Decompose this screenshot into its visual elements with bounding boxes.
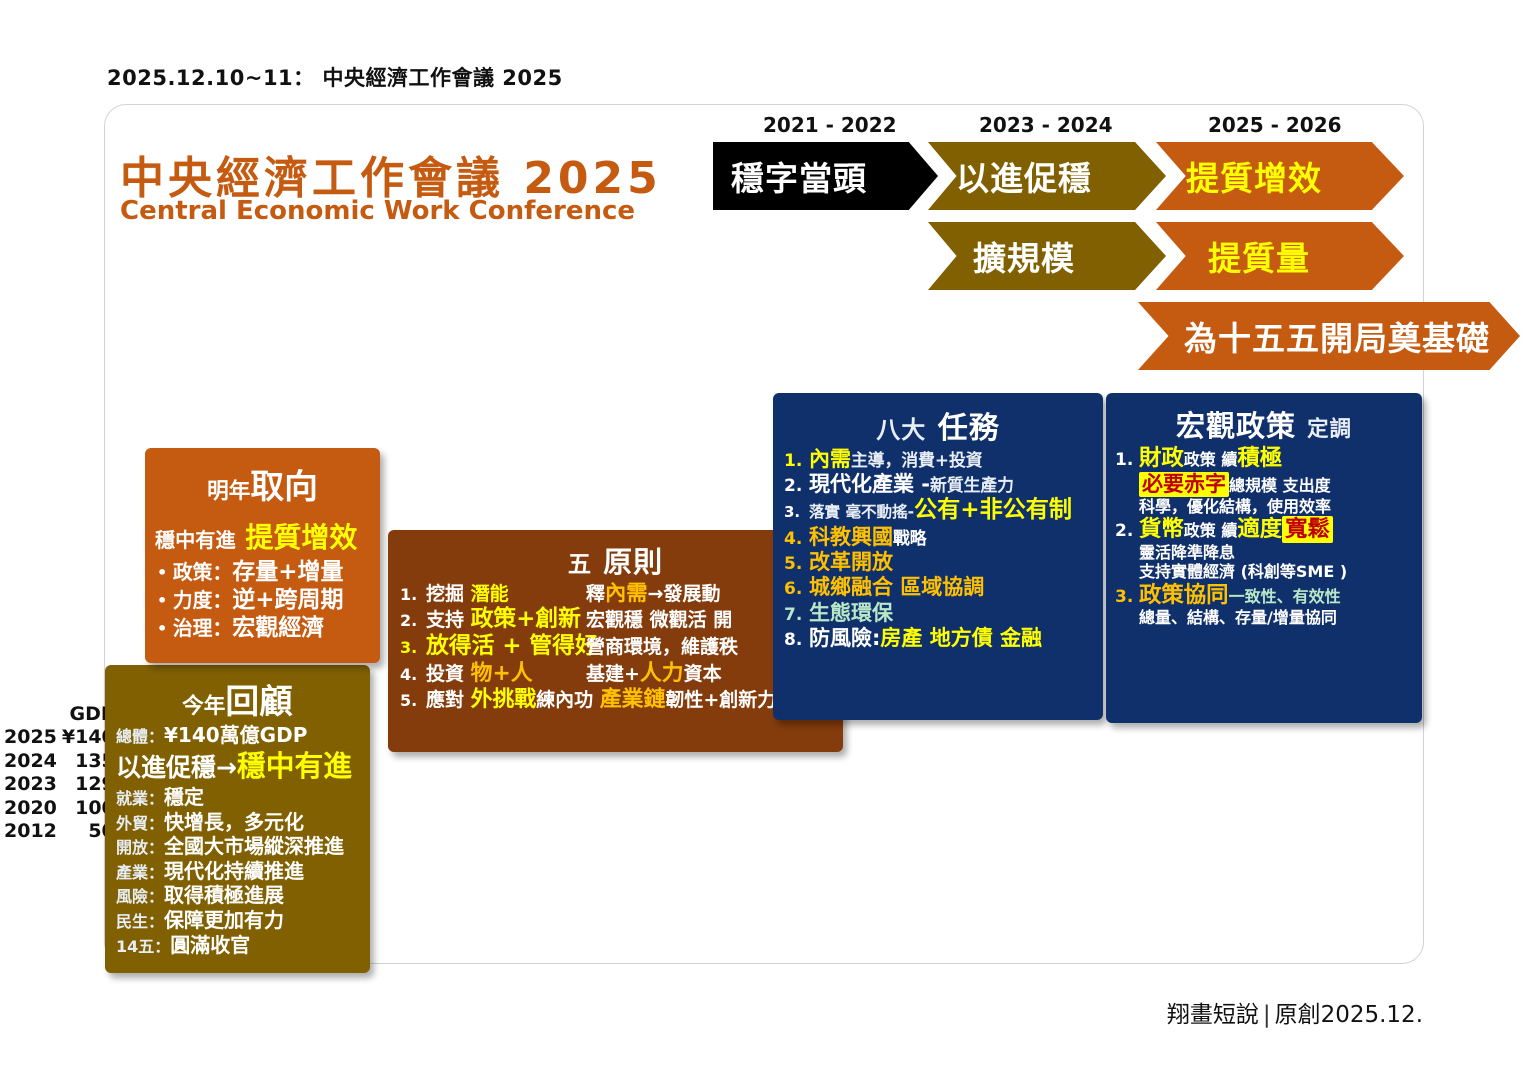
- principle-b3: 資本: [684, 663, 722, 685]
- card-eight-tasks[interactable]: 八大 任務 1. 內需主導，消費+投資 2. 現代化產業 - 新質生產力 3. …: [773, 393, 1103, 720]
- review-highlight-left: 以進促穩→: [116, 753, 237, 782]
- task-num: 2.: [784, 476, 809, 496]
- card-macro-heading-small: 定調: [1307, 417, 1352, 442]
- task-p2: 現代化產業 -: [809, 472, 930, 497]
- principle-a1: 投資: [426, 663, 471, 685]
- card-review-heading-big: 回顧: [225, 682, 293, 721]
- next-item-list: 政策：存量+增量 力度：逆+跨周期 治理：宏觀經濟: [145, 558, 380, 642]
- task-num: 6.: [784, 579, 809, 599]
- task-p1: 科教興國: [809, 525, 893, 550]
- chevron-2021-2022[interactable]: 穩字當頭: [713, 142, 938, 210]
- card-next-heading-big: 取向: [250, 467, 318, 506]
- review-item-val: 全國大市場縱深推進: [164, 834, 344, 858]
- principle-b1: 宏觀穩 微觀活 開: [586, 609, 732, 631]
- principle-num: 4.: [400, 665, 426, 684]
- task-p1: 城鄉融合 區域協調: [809, 575, 984, 600]
- table-row-header: GDP: [4, 703, 120, 726]
- principle-a1: 支持: [426, 609, 471, 631]
- task-num: 3.: [784, 503, 809, 521]
- chevron-2023-2024[interactable]: 以進促穩: [928, 142, 1166, 210]
- review-item-key: 風險：: [116, 887, 164, 906]
- card-this-year-review[interactable]: 今年回顧 總體：¥140萬億GDP 以進促穩→穩中有進 就業：穩定 外貿：快增長…: [105, 665, 370, 973]
- principle-b3: 韌性+創新力: [665, 689, 776, 711]
- principle-a2: 政策+創新: [471, 606, 581, 632]
- principle-b3: →發展動: [648, 583, 721, 605]
- gdp-year: 2023: [4, 773, 62, 796]
- next-item-key: 治理：: [173, 617, 232, 640]
- principle-a2: 物+人: [471, 661, 533, 686]
- principle-b2: 產業鏈: [600, 687, 666, 712]
- chevron-foundation[interactable]: 為十五五開局奠基礎: [1138, 302, 1520, 370]
- macro-highlight: 必要赤字: [1139, 472, 1229, 497]
- task-p2: 戰略: [893, 528, 927, 548]
- list-item: 4. 科教興國戰略: [773, 525, 1103, 550]
- gdp-year: 2012: [4, 820, 62, 843]
- list-item: 6. 城鄉融合 區域協調: [773, 575, 1103, 600]
- task-num: 8.: [784, 630, 809, 650]
- list-item: 7. 生態環保: [773, 601, 1103, 626]
- next-item-val: 宏觀經濟: [232, 615, 324, 641]
- card-tasks-heading-small: 八大: [876, 416, 926, 444]
- macro-highlight-2: 寬鬆: [1282, 516, 1333, 543]
- list-item: 科學，優化結構，使用效率: [1106, 497, 1422, 516]
- chevron-raise-quality[interactable]: 提質量: [1156, 222, 1404, 290]
- macro-t1: 政策協同: [1139, 582, 1229, 609]
- year-label-2: 2023 - 2024: [979, 113, 1113, 137]
- footer-divider: |: [1259, 1002, 1275, 1028]
- year-label-1: 2021 - 2022: [763, 113, 897, 137]
- review-item-key: 就業：: [116, 789, 164, 808]
- year-label-3: 2025 - 2026: [1208, 113, 1342, 137]
- task-num: 7.: [784, 605, 809, 625]
- card-next-heading-small: 明年: [207, 479, 250, 504]
- task-num: 4.: [784, 529, 809, 549]
- gdp-year: 2025: [4, 726, 62, 749]
- table-row: 2023 129: [4, 773, 120, 796]
- review-highlight: 以進促穩→穩中有進: [105, 748, 370, 785]
- card-macro-heading-big: 宏觀政策: [1176, 409, 1296, 443]
- macro-t5: 總量、結構、存量/增量協同: [1139, 608, 1337, 627]
- macro-num: 1.: [1115, 450, 1139, 470]
- macro-t1: 貨幣: [1139, 516, 1184, 543]
- review-item-key: 開放：: [116, 838, 164, 857]
- gdp-year: 2020: [4, 797, 62, 820]
- review-item-val: 現代化持續推進: [164, 859, 304, 883]
- next-subtitle-left: 穩中有進: [155, 528, 236, 552]
- card-principles-heading-small: 五: [568, 551, 592, 578]
- card-review-heading-small: 今年: [182, 694, 225, 719]
- principle-a1: 應對: [426, 689, 471, 711]
- macro-t1: 財政: [1139, 445, 1184, 472]
- list-item: 產業：現代化持續推進: [105, 859, 370, 884]
- principle-b1: 營商環境，維護秩: [586, 636, 738, 658]
- review-total: 總體：¥140萬億GDP: [105, 723, 370, 748]
- chevron-expand-scale[interactable]: 擴規模: [928, 222, 1166, 290]
- card-next-heading: 明年取向: [145, 448, 380, 508]
- principle-b1: 釋: [586, 583, 605, 605]
- principle-b1: 基建+: [586, 663, 640, 685]
- list-item: 3. 政策協同 一致性、有效性: [1106, 582, 1422, 609]
- task-p1: 改革開放: [809, 550, 893, 575]
- card-tasks-heading: 八大 任務: [773, 393, 1103, 447]
- review-highlight-right: 穩中有進: [237, 749, 352, 783]
- gdp-table: GDP 2025 ¥140 2024 135 2023 129 2020 100…: [4, 703, 120, 843]
- macro-t5: 科學，優化結構，使用效率: [1139, 497, 1331, 516]
- table-row: 2012 50: [4, 820, 120, 843]
- next-subtitle-right: 提質增效: [245, 521, 357, 554]
- list-item: 8. 防風險: 房產 地方債 金融: [773, 626, 1103, 651]
- list-item: 1. 財政政策 續 積極: [1106, 445, 1422, 472]
- footer-author: 翔畫短說: [1167, 1002, 1259, 1028]
- list-item: 開放：全國大市場縱深推進: [105, 834, 370, 859]
- review-item-key: 14五：: [116, 937, 170, 956]
- gdp-col-blank: [4, 703, 62, 726]
- principle-a2: 放得活 + 管得好: [426, 633, 598, 659]
- review-item-val: 取得積極進展: [164, 883, 284, 907]
- chevron-label: 提質增效: [1186, 152, 1322, 200]
- list-item: 14五：圓滿收官: [105, 933, 370, 958]
- list-item: 3. 落實 毫不動搖-公有+非公有制: [773, 497, 1103, 525]
- list-item: 靈活降準降息: [1106, 543, 1422, 562]
- review-item-val: 穩定: [164, 785, 204, 809]
- footer-origin: 原創2025.12.: [1275, 1002, 1423, 1028]
- principle-num: 3.: [400, 638, 426, 657]
- review-total-key: 總體：: [116, 727, 164, 746]
- next-item-val: 存量+增量: [232, 559, 343, 585]
- task-p3: 公有+非公有制: [914, 497, 1072, 525]
- macro-t2: 政策 續: [1184, 450, 1238, 469]
- list-item: 支持實體經濟 (科創等SME ): [1106, 562, 1422, 581]
- task-num: 1.: [784, 451, 809, 471]
- chevron-label: 以進促穩: [956, 152, 1092, 200]
- list-item: 力度：逆+跨周期: [157, 586, 380, 614]
- principle-a1: 挖掘: [426, 583, 471, 605]
- review-item-key: 民生：: [116, 912, 164, 931]
- card-macro-policy[interactable]: 宏觀政策 定調 1. 財政政策 續 積極 必要赤字 總規模 支出度 科學，優化結…: [1106, 393, 1422, 723]
- next-item-val: 逆+跨周期: [232, 587, 343, 613]
- task-p1: 內需: [809, 447, 851, 472]
- macro-t2: 政策 續: [1184, 521, 1238, 540]
- principle-num: 2.: [400, 611, 426, 630]
- list-item: 1. 內需主導，消費+投資: [773, 447, 1103, 472]
- macro-t5: 支持實體經濟 (科創等SME ): [1139, 562, 1347, 581]
- chevron-label: 穩字當頭: [731, 152, 867, 200]
- review-item-val: 快增長，多元化: [164, 810, 304, 834]
- table-row: 2024 135: [4, 750, 120, 773]
- task-p2: 主導，消費+投資: [851, 450, 983, 470]
- macro-t5: 靈活降準降息: [1139, 543, 1235, 562]
- task-p3: 房產 地方債 金融: [880, 626, 1042, 651]
- list-item: 風險：取得積極進展: [105, 883, 370, 908]
- card-principles-heading-big: 原則: [603, 545, 663, 579]
- macro-t4: 總規模 支出度: [1229, 476, 1331, 495]
- list-item: 就業：穩定: [105, 785, 370, 810]
- next-item-key: 力度：: [173, 589, 232, 612]
- list-item: 5. 改革開放: [773, 550, 1103, 575]
- list-item: 民生：保障更加有力: [105, 908, 370, 933]
- list-item: 2. 貨幣政策 續 適度 寬鬆: [1106, 516, 1422, 543]
- task-p2: 落實 毫不動搖-: [809, 503, 914, 522]
- review-item-val: 圓滿收官: [170, 933, 250, 957]
- page-title-en: Central Economic Work Conference: [120, 196, 635, 226]
- principle-b2: 內需: [605, 581, 648, 606]
- card-tasks-heading-big: 任務: [938, 411, 1000, 446]
- macro-t3: 積極: [1237, 445, 1282, 472]
- list-item: 外貿：快增長，多元化: [105, 810, 370, 835]
- task-num: 5.: [784, 554, 809, 574]
- card-macro-heading: 宏觀政策 定調: [1106, 393, 1422, 445]
- table-row: 2025 ¥140: [4, 726, 120, 749]
- review-total-val: ¥140萬億GDP: [164, 723, 307, 747]
- task-p1: 生態環保: [809, 601, 893, 626]
- footer: 翔畫短說|原創2025.12.: [1167, 995, 1423, 1029]
- next-item-key: 政策：: [173, 561, 232, 584]
- principle-num: 1.: [400, 585, 426, 604]
- task-p3: 新質生產力: [930, 475, 1014, 495]
- list-item: 總量、結構、存量/增量協同: [1106, 608, 1422, 627]
- chevron-label: 提質量: [1208, 232, 1310, 280]
- review-item-key: 外貿：: [116, 814, 164, 833]
- task-p2: 防風險:: [809, 626, 880, 651]
- gdp-year: 2024: [4, 750, 62, 773]
- principle-b2: 人力: [640, 661, 684, 686]
- list-item: 2. 現代化產業 - 新質生產力: [773, 472, 1103, 497]
- review-item-key: 產業：: [116, 863, 164, 882]
- macro-t3: 適度: [1237, 516, 1282, 543]
- principle-num: 5.: [400, 691, 426, 710]
- macro-num: 3.: [1115, 587, 1139, 607]
- principle-b1: 練內功: [536, 689, 600, 711]
- review-item-val: 保障更加有力: [164, 908, 284, 932]
- date-header: 2025.12.10~11： 中央經濟工作會議 2025: [107, 62, 563, 92]
- next-subtitle: 穩中有進 提質增效: [145, 508, 380, 558]
- principle-a2: 潛能: [471, 583, 509, 605]
- table-row: 2020 100: [4, 797, 120, 820]
- macro-t2: 一致性、有效性: [1229, 587, 1341, 606]
- card-review-heading: 今年回顧: [105, 665, 370, 723]
- list-item: 治理：宏觀經濟: [157, 614, 380, 642]
- macro-num: 2.: [1115, 521, 1139, 541]
- list-item: 必要赤字 總規模 支出度: [1106, 472, 1422, 497]
- chevron-label: 為十五五開局奠基礎: [1184, 312, 1490, 360]
- card-next-year-direction[interactable]: 明年取向 穩中有進 提質增效 政策：存量+增量 力度：逆+跨周期 治理：宏觀經濟: [145, 448, 380, 663]
- list-item: 政策：存量+增量: [157, 558, 380, 586]
- principle-a2: 外挑戰: [471, 687, 537, 712]
- chevron-label: 擴規模: [973, 232, 1075, 280]
- chevron-2025-2026[interactable]: 提質增效: [1156, 142, 1404, 210]
